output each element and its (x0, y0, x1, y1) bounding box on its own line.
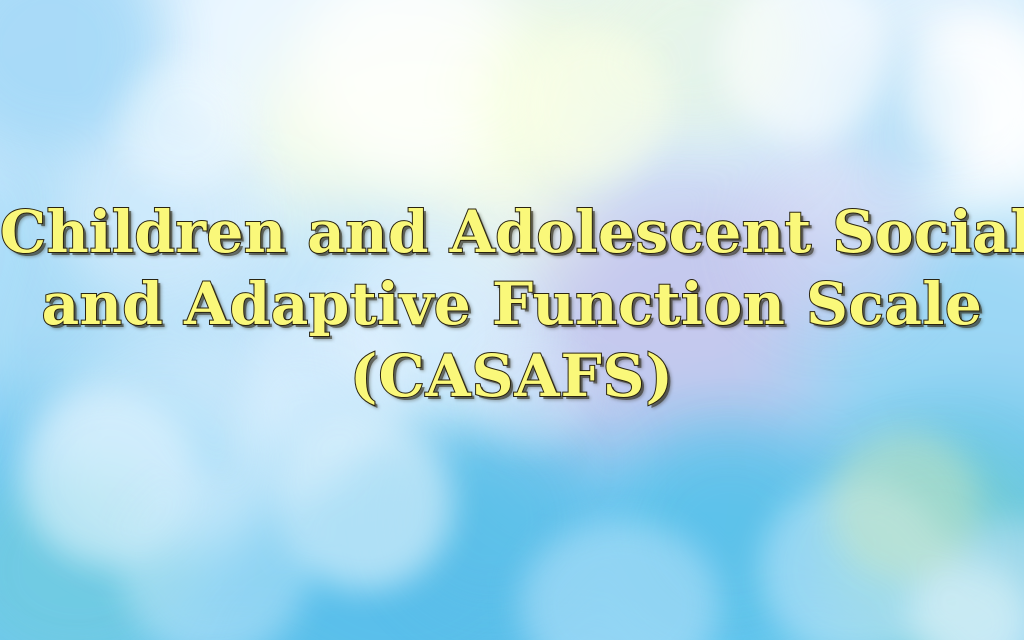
title-line-1: Children and Adolescent Social (0, 196, 1024, 268)
title-line-2: and Adaptive Function Scale (0, 268, 1024, 340)
title-line-3-acronym: (CASAFS) (0, 340, 1024, 412)
page-title: Children and Adolescent Social and Adapt… (0, 196, 1024, 412)
title-banner: Children and Adolescent Social and Adapt… (0, 0, 1024, 640)
